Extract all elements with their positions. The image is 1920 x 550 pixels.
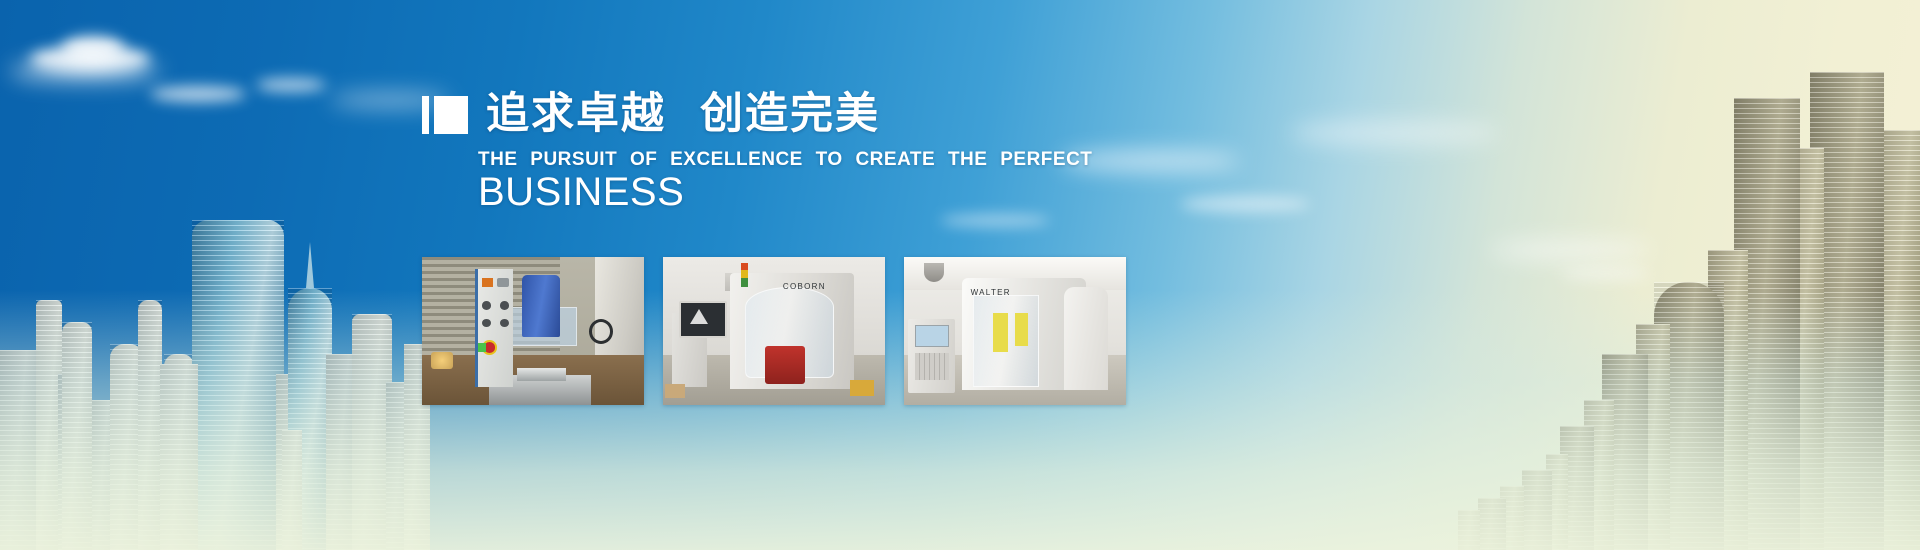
cnc-milling-machine-photo — [422, 257, 644, 405]
photo-caption-coborn: COBORN — [783, 282, 826, 291]
photo-strip: COBORN WALTER — [422, 257, 1126, 405]
walter-tool-grinder-photo: WALTER — [904, 257, 1126, 405]
photo-caption-walter: WALTER — [971, 288, 1011, 297]
hero-banner: 追求卓越 创造完美 THE PURSUIT OF EXCELLENCE TO C… — [0, 0, 1920, 550]
page-title: 追求卓越 创造完美 — [486, 93, 880, 136]
banner-content: 追求卓越 创造完美 THE PURSUIT OF EXCELLENCE TO C… — [0, 0, 1920, 550]
business-word: BUSINESS — [478, 170, 684, 215]
coborn-grinding-machine-photo: COBORN — [663, 257, 885, 405]
bar-square-logo-mark-icon — [422, 96, 468, 134]
headline-row: 追求卓越 创造完美 — [422, 93, 880, 136]
subtitle-text: THE PURSUIT OF EXCELLENCE TO CREATE THE … — [478, 149, 1092, 171]
